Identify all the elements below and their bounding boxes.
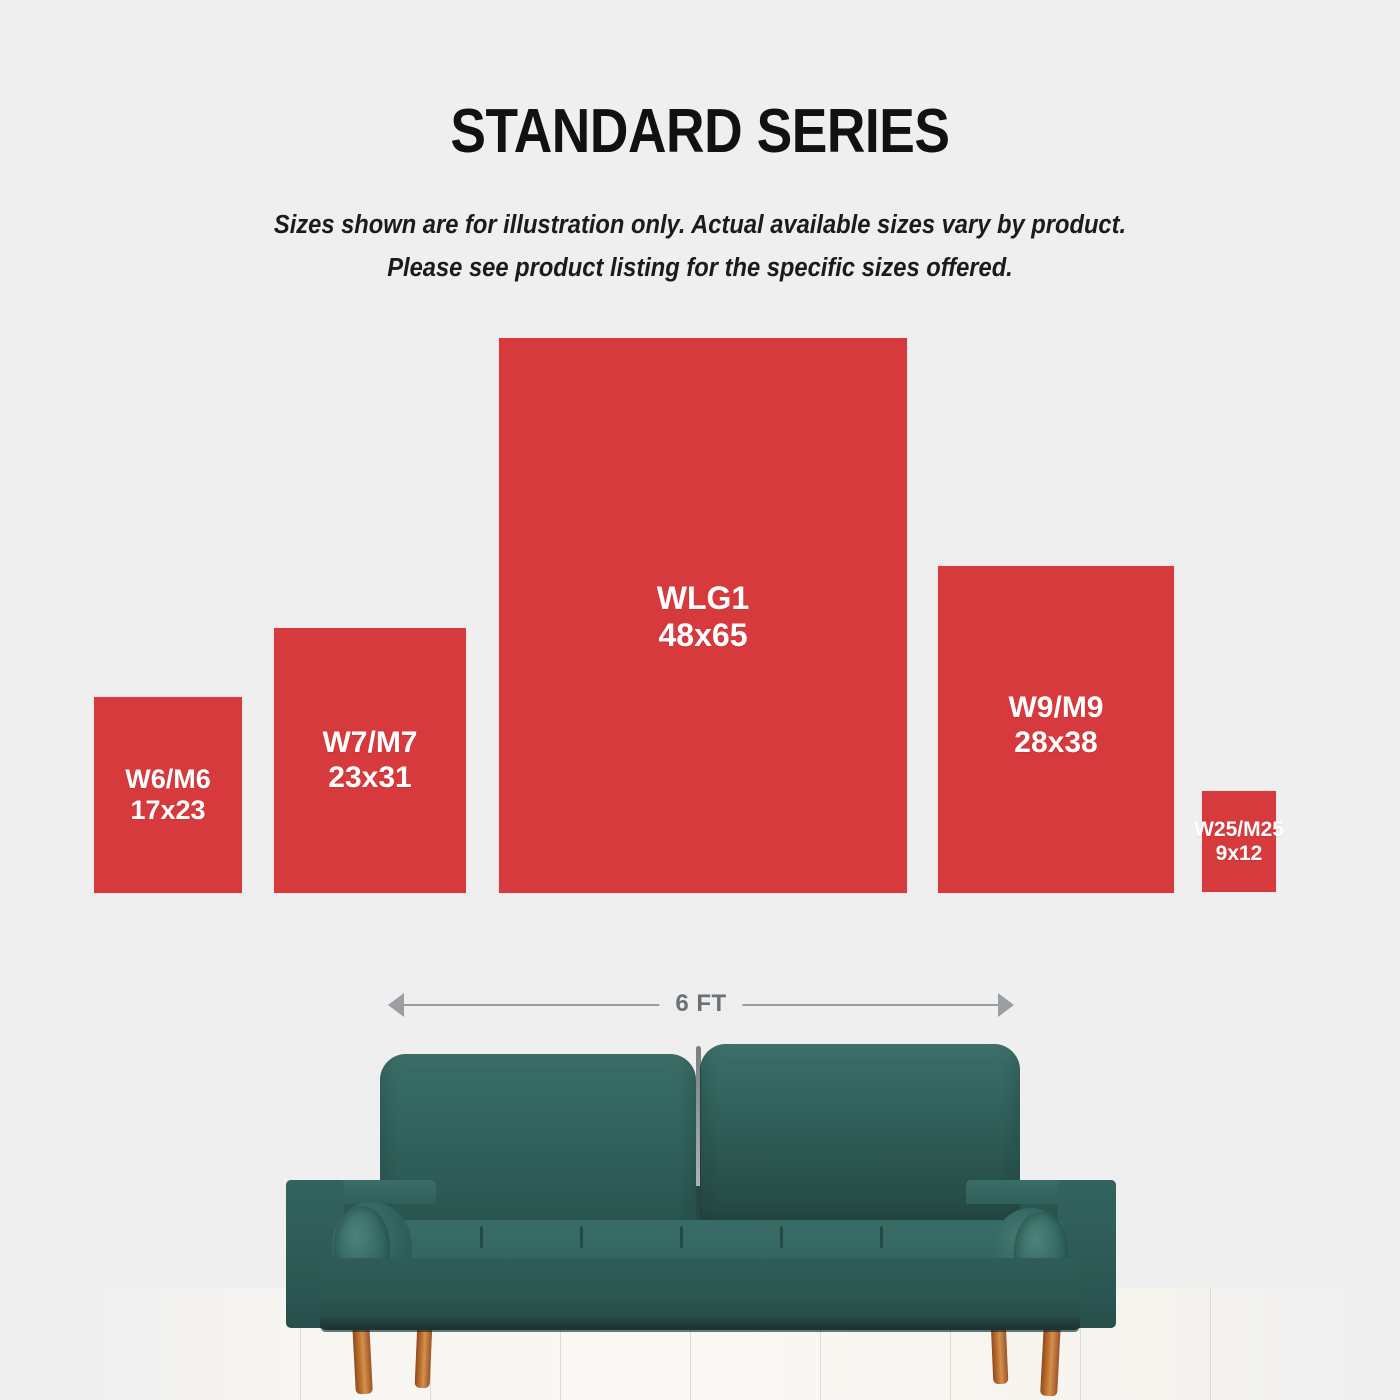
size-frame-w6-m6[interactable]: W6/M6 17x23 xyxy=(94,697,242,893)
size-frame-dims: 28x38 xyxy=(1014,726,1097,761)
sofa-leg xyxy=(352,1322,373,1395)
sofa-back-cushion xyxy=(380,1054,696,1244)
subtitle-line-1: Sizes shown are for illustration only. A… xyxy=(49,204,1351,247)
size-frame-dims: 23x31 xyxy=(328,761,411,796)
sofa-seat-tuft xyxy=(780,1226,783,1248)
size-frame-w7-m7[interactable]: W7/M7 23x31 xyxy=(274,628,466,893)
size-frame-w25-m25[interactable]: W25/M25 9x12 xyxy=(1202,791,1276,892)
size-guide-canvas: STANDARD SERIES Sizes shown are for illu… xyxy=(0,0,1400,1400)
size-frame-w9-m9[interactable]: W9/M9 28x38 xyxy=(938,566,1174,893)
measurement-indicator: 6 FT xyxy=(388,983,1014,1027)
sofa-cushion-seam xyxy=(696,1046,701,1236)
sofa-leg xyxy=(1040,1322,1061,1397)
size-frame-code: W25/M25 xyxy=(1194,818,1284,842)
sofa-seat-tuft xyxy=(680,1226,683,1248)
size-frame-code: WLG1 xyxy=(657,580,749,617)
green-velvet-sofa xyxy=(280,1030,1120,1400)
size-frame-dims: 48x65 xyxy=(659,617,748,654)
arrow-left-icon xyxy=(388,993,404,1017)
size-frame-code: W6/M6 xyxy=(125,764,211,795)
arrow-right-icon xyxy=(998,993,1014,1017)
size-frame-code: W9/M9 xyxy=(1008,691,1103,726)
page-subtitle: Sizes shown are for illustration only. A… xyxy=(49,204,1351,290)
subtitle-line-2: Please see product listing for the speci… xyxy=(49,247,1351,290)
sofa-seat-tuft xyxy=(880,1226,883,1248)
size-frame-code: W7/M7 xyxy=(322,726,417,761)
sofa-base-shadow xyxy=(320,1316,1080,1332)
size-frame-dims: 9x12 xyxy=(1216,842,1263,866)
size-frame-dims: 17x23 xyxy=(130,795,205,826)
page-title: STANDARD SERIES xyxy=(98,96,1302,167)
measurement-label: 6 FT xyxy=(659,983,742,1025)
size-frame-wlg1[interactable]: WLG1 48x65 xyxy=(499,338,907,893)
floor-plank xyxy=(1210,1288,1211,1400)
sofa-seat-tuft xyxy=(580,1226,583,1248)
sofa-seat-tuft xyxy=(480,1226,483,1248)
